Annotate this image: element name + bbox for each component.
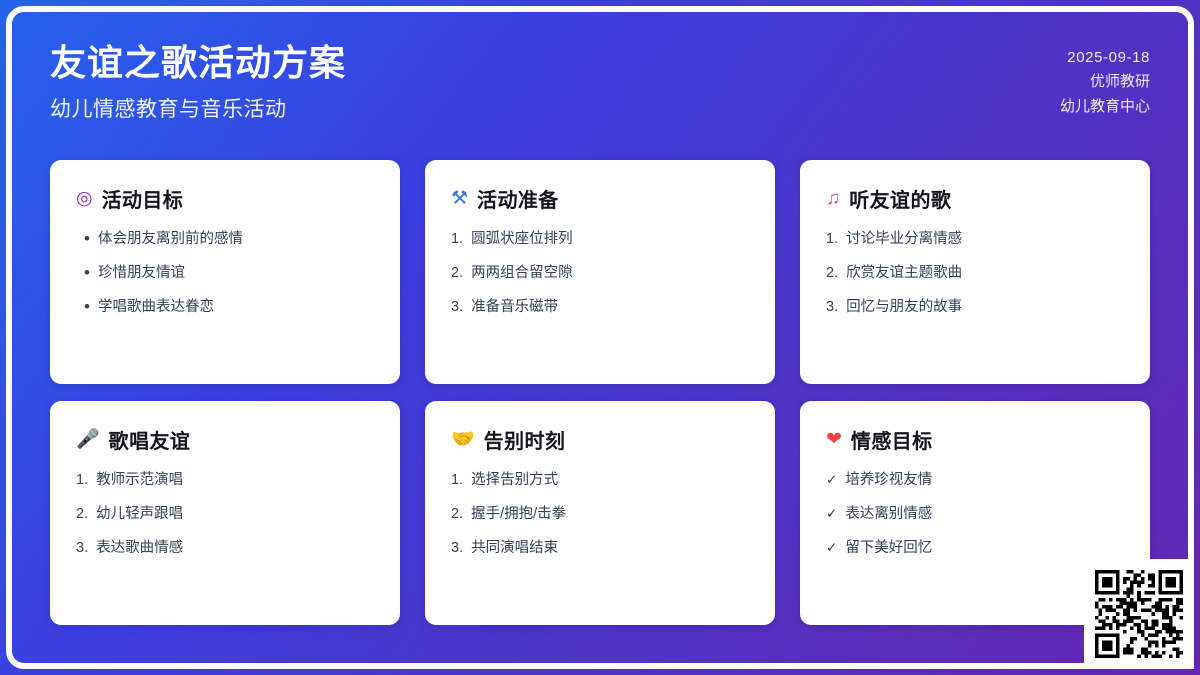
meta-org: 优师教研	[1060, 70, 1150, 94]
list-item: •体会朋友离别前的感情	[76, 229, 374, 250]
card-list: 1.教师示范演唱2.幼儿轻声跟唱3.表达歌曲情感	[76, 470, 374, 559]
card-list: ✓培养珍视友情✓表达离别情感✓留下美好回忆	[826, 470, 1124, 559]
list-item: 3.准备音乐磁带	[451, 297, 749, 318]
list-marker: 1.	[826, 229, 838, 250]
list-marker: •	[76, 297, 90, 317]
card-title: 活动目标	[102, 184, 184, 213]
list-item-text: 体会朋友离别前的感情	[98, 229, 374, 250]
list-marker: •	[76, 229, 90, 249]
target-icon: ◎	[76, 189, 93, 208]
list-marker: 1.	[451, 229, 463, 250]
card-header: ❤情感目标	[826, 425, 1124, 454]
list-marker: 3.	[451, 538, 463, 559]
card-5: 🤝告别时刻1.选择告别方式2.握手/拥抱/击拳3.共同演唱结束	[425, 401, 775, 625]
card-3: ♫听友谊的歌1.讨论毕业分离情感2.欣赏友谊主题歌曲3.回忆与朋友的故事	[800, 160, 1150, 384]
list-marker: 1.	[76, 470, 88, 491]
list-marker: 2.	[451, 263, 463, 284]
list-item-text: 选择告别方式	[471, 470, 749, 491]
list-item-text: 培养珍视友情	[845, 470, 1124, 491]
slide-root: 友谊之歌活动方案 幼儿情感教育与音乐活动 2025-09-18 优师教研 幼儿教…	[0, 0, 1200, 675]
header-meta: 2025-09-18 优师教研 幼儿教育中心	[1060, 38, 1150, 119]
card-list: 1.选择告别方式2.握手/拥抱/击拳3.共同演唱结束	[451, 470, 749, 559]
list-marker: 2.	[76, 504, 88, 525]
list-item: •学唱歌曲表达眷恋	[76, 297, 374, 318]
tools-icon: ⚒	[451, 189, 468, 208]
list-item: 2.两两组合留空隙	[451, 263, 749, 284]
qr-code-container[interactable]	[1084, 559, 1194, 669]
page-title: 友谊之歌活动方案	[50, 42, 346, 84]
card-header: 🤝告别时刻	[451, 425, 749, 454]
card-list: 1.圆弧状座位排列2.两两组合留空隙3.准备音乐磁带	[451, 229, 749, 318]
list-item: 1.选择告别方式	[451, 470, 749, 491]
card-4: 🎤歌唱友谊1.教师示范演唱2.幼儿轻声跟唱3.表达歌曲情感	[50, 401, 400, 625]
list-item-text: 珍惜朋友情谊	[98, 263, 374, 284]
list-item-text: 教师示范演唱	[96, 470, 374, 491]
list-item: 2.握手/拥抱/击拳	[451, 504, 749, 525]
list-item: ✓留下美好回忆	[826, 538, 1124, 559]
list-item: 1.圆弧状座位排列	[451, 229, 749, 250]
list-marker: ✓	[826, 470, 837, 490]
meta-center: 幼儿教育中心	[1060, 95, 1150, 119]
qr-code[interactable]	[1095, 570, 1183, 658]
list-item-text: 讨论毕业分离情感	[846, 229, 1124, 250]
music-note-icon: ♫	[826, 189, 840, 208]
card-1: ◎活动目标•体会朋友离别前的感情•珍惜朋友情谊•学唱歌曲表达眷恋	[50, 160, 400, 384]
list-item: ✓表达离别情感	[826, 504, 1124, 525]
list-marker: 2.	[451, 504, 463, 525]
card-header: 🎤歌唱友谊	[76, 425, 374, 454]
card-title: 情感目标	[851, 425, 933, 454]
list-item-text: 两两组合留空隙	[471, 263, 749, 284]
list-item-text: 留下美好回忆	[845, 538, 1124, 559]
card-header: ⚒活动准备	[451, 184, 749, 213]
heart-icon: ❤	[826, 430, 842, 449]
list-marker: 2.	[826, 263, 838, 284]
list-marker: ✓	[826, 504, 837, 524]
card-title: 听友谊的歌	[849, 184, 951, 213]
list-item: 3.共同演唱结束	[451, 538, 749, 559]
card-title: 活动准备	[477, 184, 559, 213]
list-item-text: 表达离别情感	[845, 504, 1124, 525]
list-marker: 3.	[76, 538, 88, 559]
list-item: 2.欣赏友谊主题歌曲	[826, 263, 1124, 284]
microphone-icon: 🎤	[76, 430, 100, 449]
list-item: 1.教师示范演唱	[76, 470, 374, 491]
card-list: •体会朋友离别前的感情•珍惜朋友情谊•学唱歌曲表达眷恋	[76, 229, 374, 318]
card-header: ♫听友谊的歌	[826, 184, 1124, 213]
list-item: 3.回忆与朋友的故事	[826, 297, 1124, 318]
list-item: 2.幼儿轻声跟唱	[76, 504, 374, 525]
card-list: 1.讨论毕业分离情感2.欣赏友谊主题歌曲3.回忆与朋友的故事	[826, 229, 1124, 318]
slide-header: 友谊之歌活动方案 幼儿情感教育与音乐活动 2025-09-18 优师教研 幼儿教…	[50, 38, 1150, 138]
list-item-text: 握手/拥抱/击拳	[471, 504, 749, 525]
handshake-icon: 🤝	[451, 430, 475, 449]
card-grid: ◎活动目标•体会朋友离别前的感情•珍惜朋友情谊•学唱歌曲表达眷恋⚒活动准备1.圆…	[50, 160, 1150, 625]
list-marker: 3.	[826, 297, 838, 318]
list-item-text: 准备音乐磁带	[471, 297, 749, 318]
list-item-text: 圆弧状座位排列	[471, 229, 749, 250]
card-title: 歌唱友谊	[109, 425, 191, 454]
card-2: ⚒活动准备1.圆弧状座位排列2.两两组合留空隙3.准备音乐磁带	[425, 160, 775, 384]
card-header: ◎活动目标	[76, 184, 374, 213]
list-item: •珍惜朋友情谊	[76, 263, 374, 284]
list-item-text: 表达歌曲情感	[96, 538, 374, 559]
list-item-text: 共同演唱结束	[471, 538, 749, 559]
list-marker: 3.	[451, 297, 463, 318]
card-title: 告别时刻	[484, 425, 566, 454]
list-marker: •	[76, 263, 90, 283]
header-title-group: 友谊之歌活动方案 幼儿情感教育与音乐活动	[50, 38, 346, 123]
list-item: 1.讨论毕业分离情感	[826, 229, 1124, 250]
list-item: ✓培养珍视友情	[826, 470, 1124, 491]
list-item-text: 回忆与朋友的故事	[846, 297, 1124, 318]
meta-date: 2025-09-18	[1060, 46, 1150, 70]
page-subtitle: 幼儿情感教育与音乐活动	[50, 93, 346, 123]
list-item-text: 欣赏友谊主题歌曲	[846, 263, 1124, 284]
list-item-text: 幼儿轻声跟唱	[96, 504, 374, 525]
list-item-text: 学唱歌曲表达眷恋	[98, 297, 374, 318]
list-marker: 1.	[451, 470, 463, 491]
list-marker: ✓	[826, 538, 837, 558]
list-item: 3.表达歌曲情感	[76, 538, 374, 559]
